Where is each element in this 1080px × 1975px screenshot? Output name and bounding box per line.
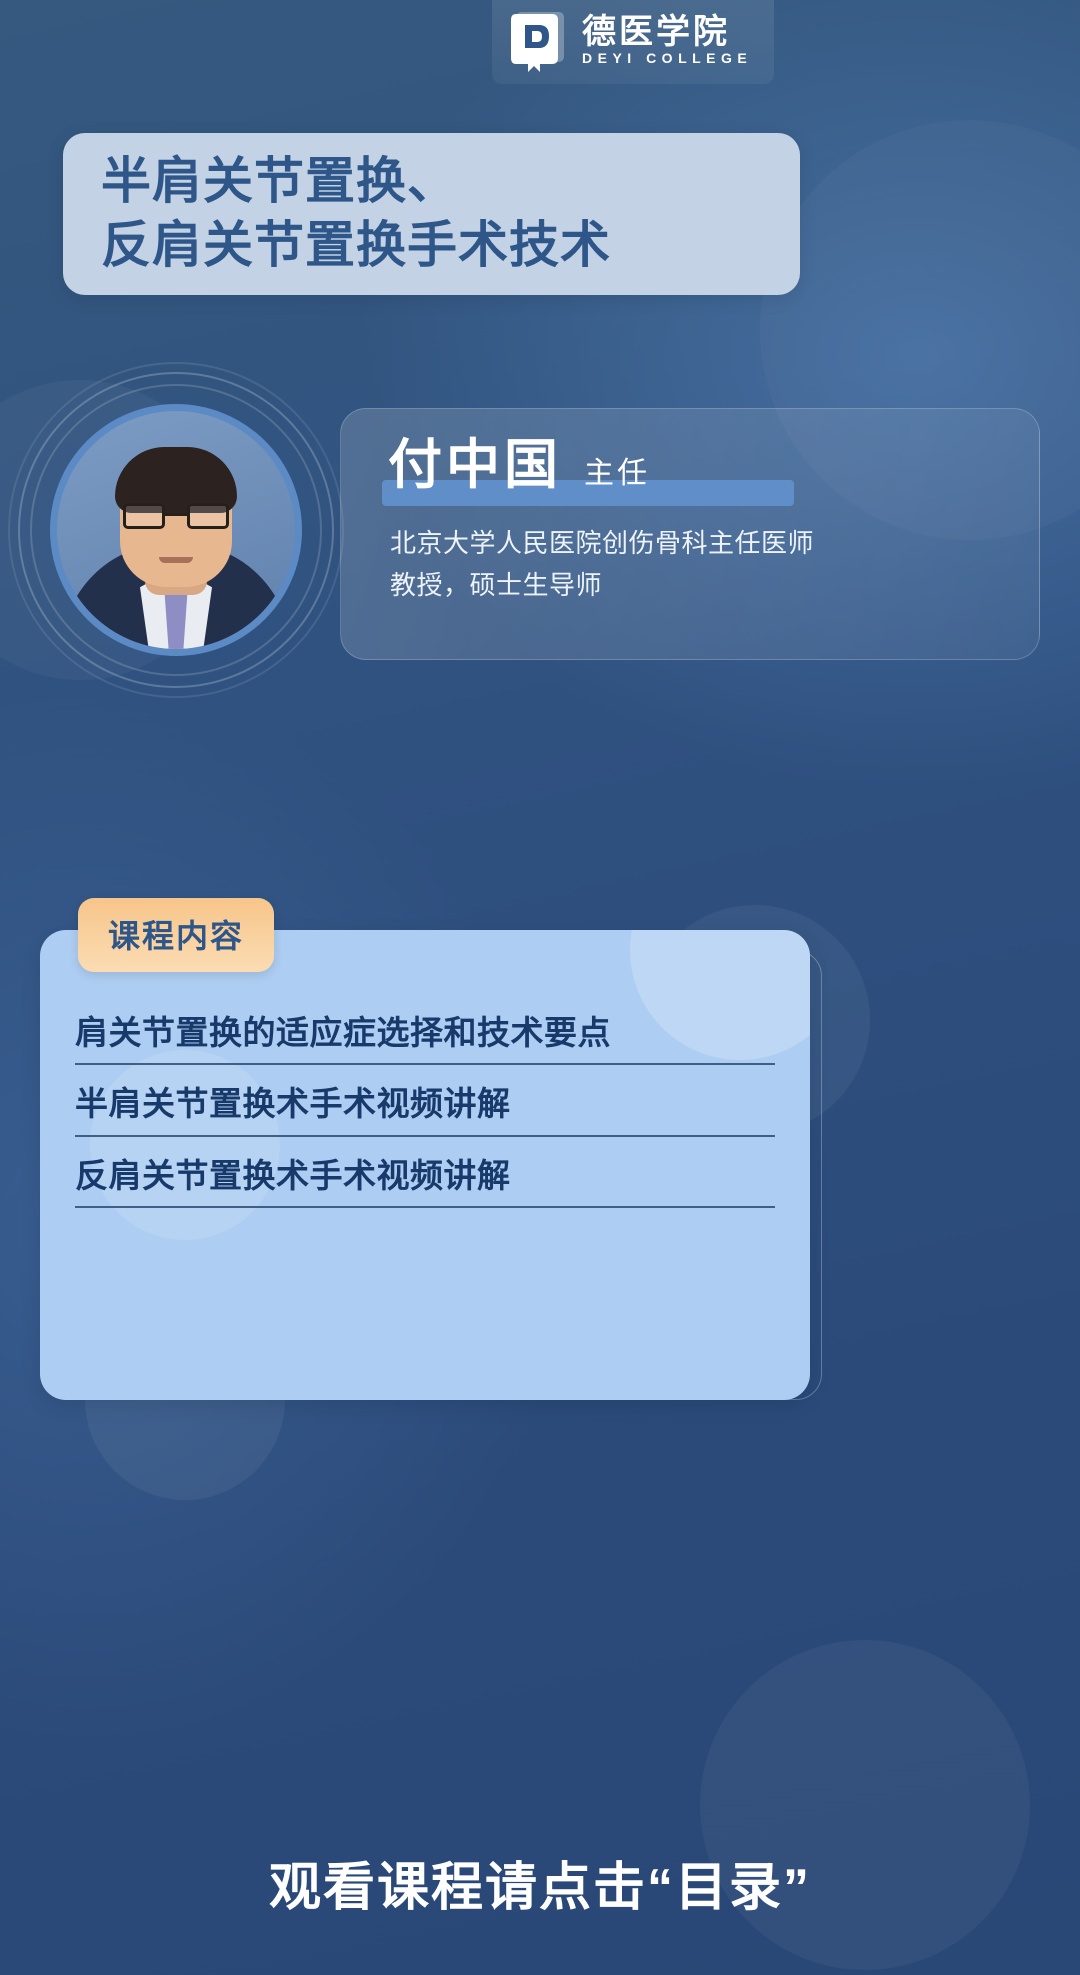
footer-cta-label: 观看课程请点击“目录” <box>269 1859 811 1917</box>
poster-title-card: 半肩关节置换、 反肩关节置换手术技术 <box>63 133 800 295</box>
brand-logo: 德医学院 DEYI COLLEGE <box>508 8 752 72</box>
course-content-badge-label: 课程内容 <box>108 918 244 954</box>
course-item-label: 反肩关节置换术手术视频讲解 <box>75 1155 775 1196</box>
list-item[interactable]: 肩关节置换的适应症选择和技术要点 <box>75 1000 775 1071</box>
presenter-credential: 教授，硕士生导师 <box>390 565 602 602</box>
course-content-badge: 课程内容 <box>78 898 274 972</box>
title-line-2: 反肩关节置换手术技术 <box>101 213 800 277</box>
background-circle-decor <box>700 1640 1030 1970</box>
title-line-1: 半肩关节置换、 <box>101 149 800 213</box>
presenter-role: 主任 <box>584 448 650 492</box>
course-item-label: 肩关节置换的适应症选择和技术要点 <box>75 1012 775 1053</box>
presenter-credential: 北京大学人民医院创伤骨科主任医师 <box>390 523 814 560</box>
brand-name-cn: 德医学院 <box>582 15 752 49</box>
footer-cta: 观看课程请点击“目录” <box>0 1845 1080 1920</box>
course-item-label: 半肩关节置换术手术视频讲解 <box>75 1083 775 1124</box>
presenter-name-row: 付中国 主任 <box>388 438 650 492</box>
brand-name-en: DEYI COLLEGE <box>582 51 752 65</box>
course-list: 肩关节置换的适应症选择和技术要点 半肩关节置换术手术视频讲解 反肩关节置换术手术… <box>75 1000 775 1214</box>
poster-root: 德医学院 DEYI COLLEGE 半肩关节置换、 反肩关节置换手术技术 <box>0 0 1080 1975</box>
presenter-photo <box>57 411 295 649</box>
list-item[interactable]: 反肩关节置换术手术视频讲解 <box>75 1143 775 1214</box>
list-item-divider <box>75 1206 775 1208</box>
list-item[interactable]: 半肩关节置换术手术视频讲解 <box>75 1071 775 1142</box>
book-d-icon <box>508 8 568 72</box>
glasses-icon <box>123 503 229 529</box>
avatar <box>50 404 302 656</box>
presenter-name: 付中国 <box>388 438 562 492</box>
list-item-divider <box>75 1063 775 1065</box>
list-item-divider <box>75 1135 775 1137</box>
avatar-decor-rings <box>10 350 360 650</box>
